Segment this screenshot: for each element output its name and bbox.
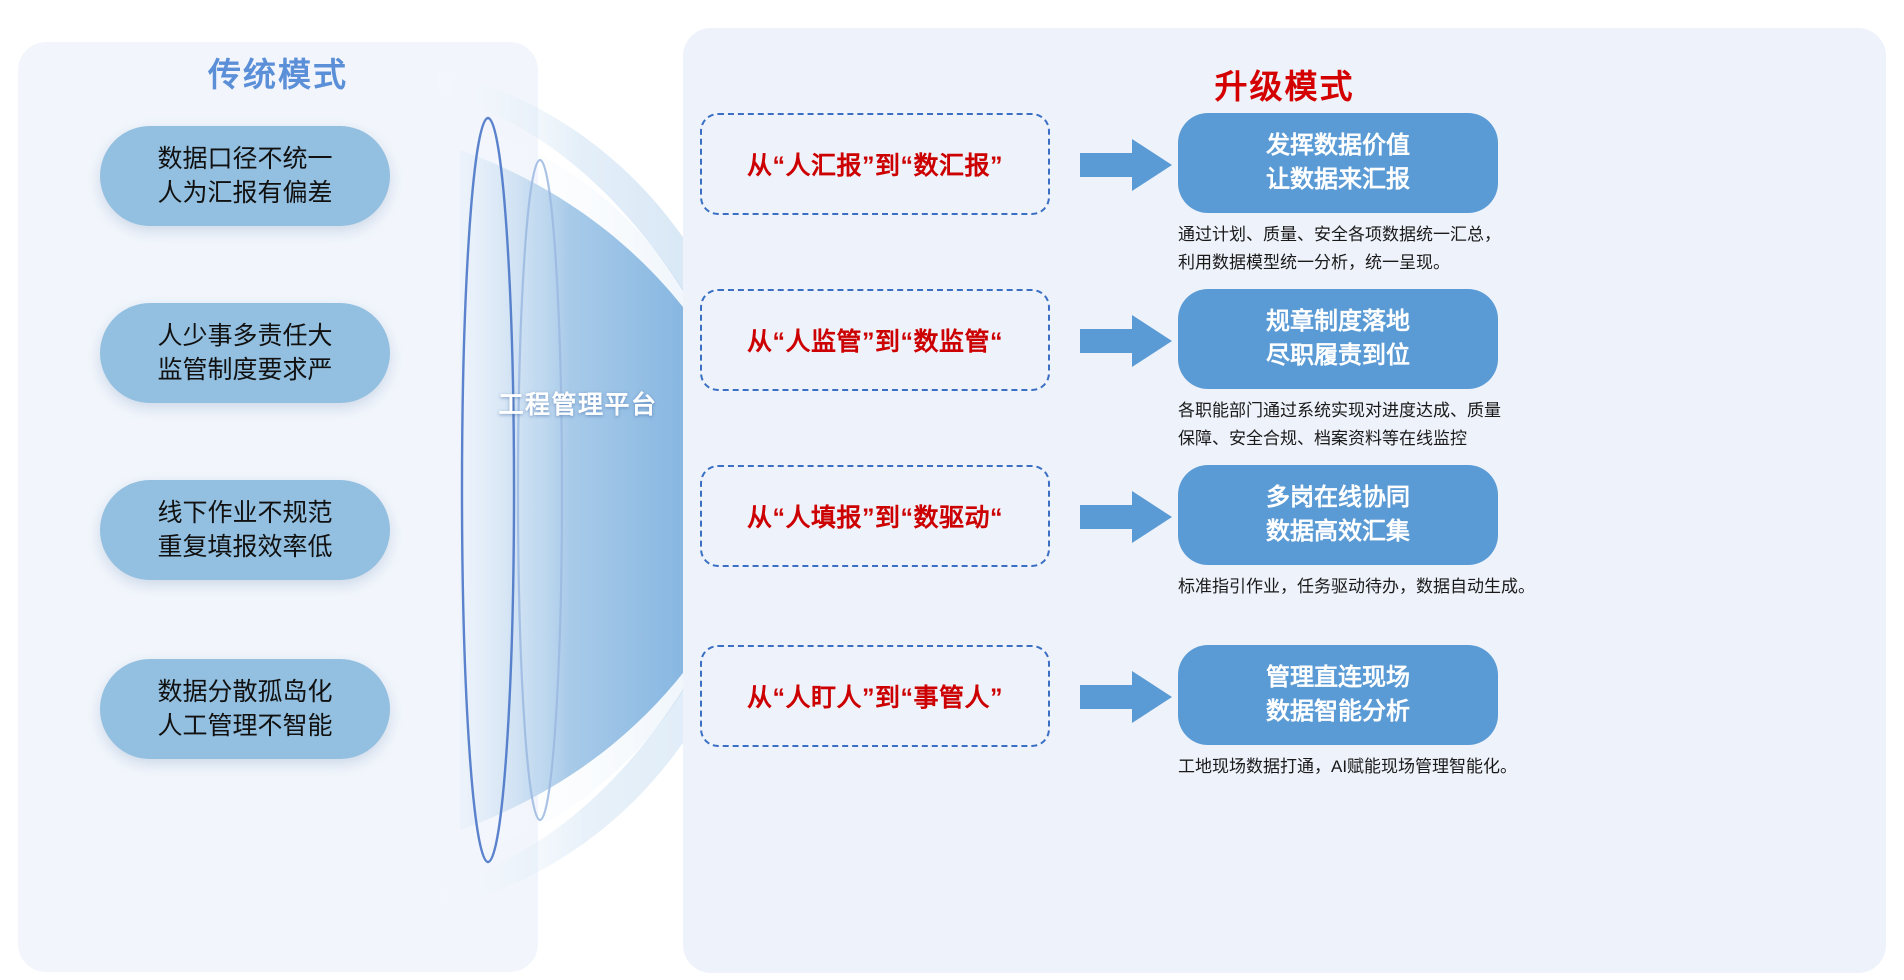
transition-box[interactable]: 从“人盯人”到“事管人” — [700, 645, 1050, 747]
right-arrow-icon — [1080, 315, 1172, 367]
outcome-line-1: 管理直连现场 — [1266, 661, 1410, 695]
pain-point-line-1: 人少事多责任大 — [157, 319, 332, 354]
outcome-card[interactable]: 管理直连现场 数据智能分析 — [1178, 645, 1498, 745]
caption-line-1: 工地现场数据打通，AI赋能现场管理智能化。 — [1178, 753, 1608, 781]
transition-label: 从“人汇报”到“数汇报” — [747, 146, 1003, 182]
diagram-canvas: 传统模式 数据口径不统一 人为汇报有偏差 人少事多责任大 监管制度要求严 线下作… — [0, 0, 1904, 980]
transition-box[interactable]: 从“人汇报”到“数汇报” — [700, 113, 1050, 215]
outcome-line-1: 多岗在线协同 — [1266, 481, 1410, 515]
caption-line-1: 各职能部门通过系统实现对进度达成、质量 — [1178, 397, 1608, 425]
pain-point-line-1: 线下作业不规范 — [157, 496, 332, 531]
pain-point-pill: 人少事多责任大 监管制度要求严 — [100, 303, 390, 403]
outcome-caption: 工地现场数据打通，AI赋能现场管理智能化。 — [1178, 753, 1608, 781]
pain-point-pill: 数据分散孤岛化 人工管理不智能 — [100, 659, 390, 759]
right-arrow-icon — [1080, 671, 1172, 723]
platform-label: 工程管理平台 — [468, 385, 688, 421]
pain-point-line-2: 人为汇报有偏差 — [157, 176, 332, 211]
outcome-card[interactable]: 发挥数据价值 让数据来汇报 — [1178, 113, 1498, 213]
pain-point-line-1: 数据分散孤岛化 — [157, 675, 332, 710]
transition-label: 从“人填报”到“数驱动“ — [747, 498, 1003, 534]
pain-point-line-2: 监管制度要求严 — [157, 353, 332, 388]
upgraded-mode-title: 升级模式 — [683, 60, 1886, 108]
transition-label: 从“人监管”到“数监管“ — [747, 322, 1003, 358]
right-arrow-icon — [1080, 139, 1172, 191]
right-arrow-icon — [1080, 491, 1172, 543]
outcome-line-1: 规章制度落地 — [1266, 305, 1410, 339]
pain-point-line-2: 人工管理不智能 — [157, 709, 332, 744]
pain-point-pill: 数据口径不统一 人为汇报有偏差 — [100, 126, 390, 226]
outcome-line-2: 数据智能分析 — [1266, 695, 1410, 729]
transition-box[interactable]: 从“人填报”到“数驱动“ — [700, 465, 1050, 567]
outcome-line-2: 尽职履责到位 — [1266, 339, 1410, 373]
outcome-card[interactable]: 多岗在线协同 数据高效汇集 — [1178, 465, 1498, 565]
upgrade-row: 从“人汇报”到“数汇报” 发挥数据价值 让数据来汇报 通过计划、质量、安全各项数… — [700, 113, 1880, 303]
caption-line-2: 利用数据模型统一分析，统一呈现。 — [1178, 249, 1608, 277]
caption-line-2: 保障、安全合规、档案资料等在线监控 — [1178, 425, 1608, 453]
upgrade-row: 从“人监管”到“数监管“ 规章制度落地 尽职履责到位 各职能部门通过系统实现对进… — [700, 289, 1880, 479]
outcome-caption: 各职能部门通过系统实现对进度达成、质量 保障、安全合规、档案资料等在线监控 — [1178, 397, 1608, 452]
transition-box[interactable]: 从“人监管”到“数监管“ — [700, 289, 1050, 391]
outcome-card[interactable]: 规章制度落地 尽职履责到位 — [1178, 289, 1498, 389]
pain-point-line-1: 数据口径不统一 — [157, 142, 332, 177]
outcome-line-2: 让数据来汇报 — [1266, 163, 1410, 197]
pain-point-line-2: 重复填报效率低 — [157, 530, 332, 565]
outcome-caption: 通过计划、质量、安全各项数据统一汇总， 利用数据模型统一分析，统一呈现。 — [1178, 221, 1608, 276]
caption-line-1: 标准指引作业，任务驱动待办，数据自动生成。 — [1178, 573, 1608, 601]
upgrade-row: 从“人盯人”到“事管人” 管理直连现场 数据智能分析 工地现场数据打通，AI赋能… — [700, 645, 1880, 835]
outcome-caption: 标准指引作业，任务驱动待办，数据自动生成。 — [1178, 573, 1608, 601]
pain-point-pill: 线下作业不规范 重复填报效率低 — [100, 480, 390, 580]
upgrade-row: 从“人填报”到“数驱动“ 多岗在线协同 数据高效汇集 标准指引作业，任务驱动待办… — [700, 465, 1880, 655]
outcome-line-2: 数据高效汇集 — [1266, 515, 1410, 549]
outcome-line-1: 发挥数据价值 — [1266, 129, 1410, 163]
transition-label: 从“人盯人”到“事管人” — [747, 678, 1003, 714]
caption-line-1: 通过计划、质量、安全各项数据统一汇总， — [1178, 221, 1608, 249]
